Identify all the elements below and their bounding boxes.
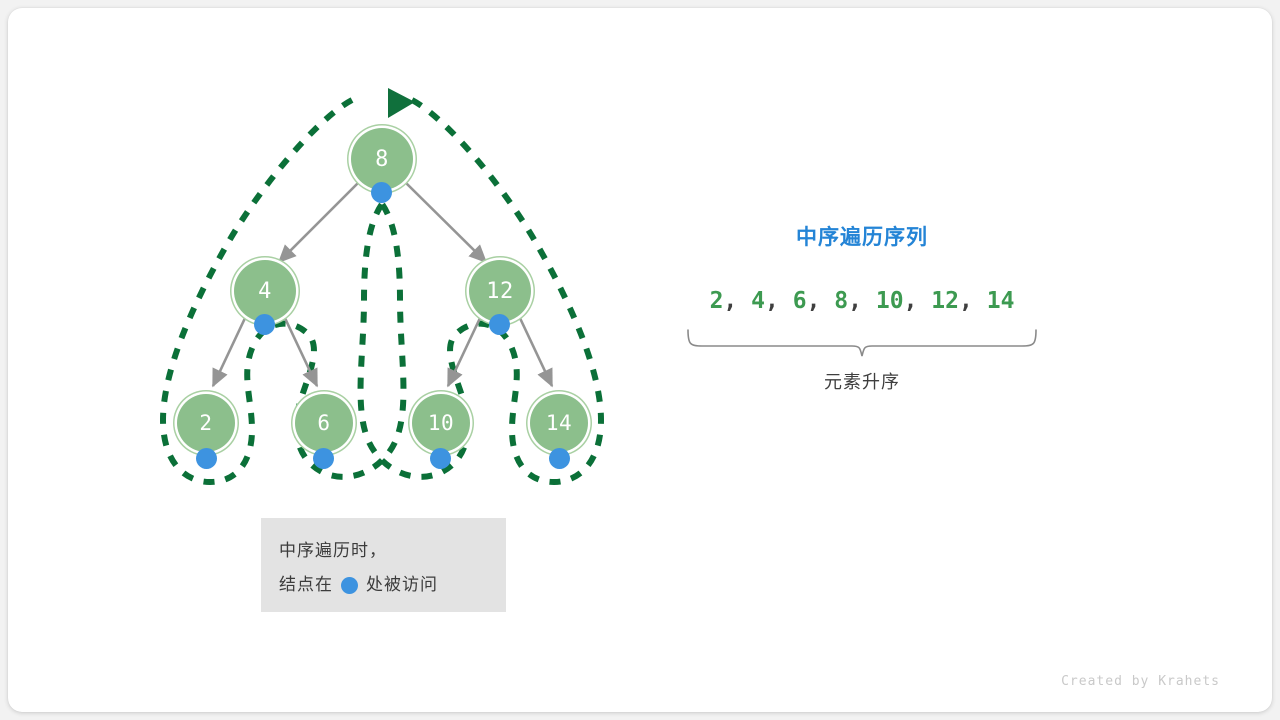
sequence-values: 2, 4, 6, 8, 10, 12, 14 <box>662 288 1062 314</box>
visit-dot-2 <box>196 448 217 469</box>
start-arrow-icon <box>388 88 415 118</box>
sequence-value: 6 <box>793 288 807 314</box>
edge-8-4 <box>279 181 360 262</box>
legend-line-1: 中序遍历时， <box>279 534 506 568</box>
visit-dot-8 <box>371 182 392 203</box>
diagram-page: 8 4 12 2 6 10 14 中序遍历序列 2, 4, 6, 8, 10, … <box>0 0 1280 720</box>
tree-node-4[interactable]: 4 <box>234 260 296 322</box>
brace <box>688 330 1036 356</box>
visit-dot-14 <box>549 448 570 469</box>
sequence-title: 中序遍历序列 <box>662 221 1062 251</box>
sequence-separator: , <box>904 288 918 314</box>
edge-4-2 <box>213 316 246 386</box>
sequence-separator: , <box>807 288 821 314</box>
diagram-canvas <box>0 0 1280 720</box>
sequence-value: 14 <box>987 288 1015 314</box>
legend-box: 中序遍历时， 结点在 处被访问 <box>261 518 506 612</box>
sequence-separator: , <box>959 288 973 314</box>
tree-node-label: 12 <box>486 279 514 304</box>
tree-node-14[interactable]: 14 <box>530 394 588 452</box>
tree-node-10[interactable]: 10 <box>412 394 470 452</box>
legend-text-before: 结点在 <box>279 568 333 602</box>
visit-dot-icon <box>341 577 358 594</box>
tree-node-8[interactable]: 8 <box>351 128 413 190</box>
legend-text-after: 处被访问 <box>366 568 438 602</box>
sequence-value: 4 <box>751 288 765 314</box>
tree-node-label: 10 <box>428 411 454 435</box>
tree-node-label: 14 <box>546 411 572 435</box>
tree-node-2[interactable]: 2 <box>177 394 235 452</box>
sequence-value: 12 <box>931 288 959 314</box>
sequence-value: 8 <box>834 288 848 314</box>
tree-node-6[interactable]: 6 <box>295 394 353 452</box>
sequence-value: 10 <box>876 288 904 314</box>
edge-12-14 <box>519 316 552 386</box>
tree-node-12[interactable]: 12 <box>469 260 531 322</box>
sequence-value: 2 <box>710 288 724 314</box>
credit-text: Created by Krahets <box>960 674 1220 689</box>
sequence-separator: , <box>723 288 737 314</box>
visit-dot-6 <box>313 448 334 469</box>
tree-node-label: 4 <box>258 279 272 304</box>
sequence-separator: , <box>848 288 862 314</box>
tree-node-label: 8 <box>375 147 389 172</box>
visit-dot-4 <box>254 314 275 335</box>
edge-8-12 <box>404 181 486 262</box>
tree-node-label: 6 <box>317 411 330 435</box>
sequence-separator: , <box>765 288 779 314</box>
brace-label: 元素升序 <box>662 368 1062 394</box>
legend-text: 中序遍历时， <box>279 534 387 568</box>
tree-node-label: 2 <box>199 411 212 435</box>
visit-dot-10 <box>430 448 451 469</box>
legend-line-2: 结点在 处被访问 <box>279 568 506 602</box>
visit-dot-12 <box>489 314 510 335</box>
